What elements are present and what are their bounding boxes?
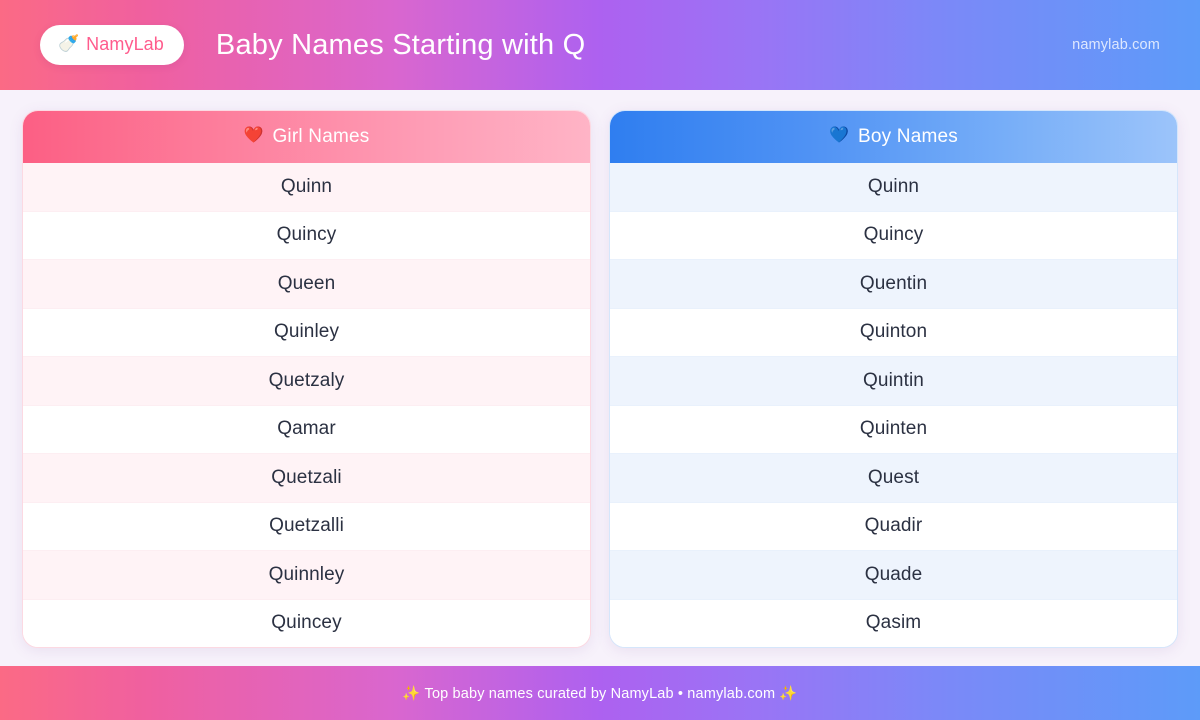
list-item[interactable]: Quetzali [23,454,590,503]
list-item[interactable]: Quetzaly [23,357,590,406]
girl-names-list: Quinn Quincy Queen Quinley Quetzaly Qama… [23,163,590,647]
page-footer: ✨ Top baby names curated by NamyLab • na… [0,666,1200,720]
list-item[interactable]: Qasim [610,600,1177,648]
names-columns-container: ❤️ Girl Names Quinn Quincy Queen Quinley… [0,90,1200,666]
list-item[interactable]: Quentin [610,260,1177,309]
brand-badge[interactable]: 🍼 NamyLab [40,25,184,65]
list-item[interactable]: Queen [23,260,590,309]
list-item[interactable]: Quinn [610,163,1177,212]
page-title: Baby Names Starting with Q [216,29,585,62]
blue-heart-icon: 💙 [829,128,849,144]
list-item[interactable]: Quade [610,551,1177,600]
site-url-label: namylab.com [1072,37,1160,53]
girl-names-title: Girl Names [272,126,369,148]
list-item[interactable]: Quest [610,454,1177,503]
footer-credit-text: ✨ Top baby names curated by NamyLab • na… [402,685,797,702]
list-item[interactable]: Quincy [610,212,1177,261]
baby-bottle-icon: 🍼 [58,35,79,52]
list-item[interactable]: Quetzalli [23,503,590,552]
brand-name-label: NamyLab [86,34,164,55]
list-item[interactable]: Qamar [23,406,590,455]
girl-names-card: ❤️ Girl Names Quinn Quincy Queen Quinley… [22,110,591,648]
girl-names-header: ❤️ Girl Names [23,111,590,163]
boy-names-header: 💙 Boy Names [610,111,1177,163]
boy-names-list: Quinn Quincy Quentin Quinton Quintin Qui… [610,163,1177,647]
list-item[interactable]: Quinn [23,163,590,212]
boy-names-card: 💙 Boy Names Quinn Quincy Quentin Quinton… [609,110,1178,648]
list-item[interactable]: Quinnley [23,551,590,600]
list-item[interactable]: Quinten [610,406,1177,455]
list-item[interactable]: Quinton [610,309,1177,358]
boy-names-title: Boy Names [858,126,958,148]
list-item[interactable]: Quincy [23,212,590,261]
red-heart-icon: ❤️ [244,128,264,144]
list-item[interactable]: Quincey [23,600,590,648]
list-item[interactable]: Quintin [610,357,1177,406]
list-item[interactable]: Quadir [610,503,1177,552]
list-item[interactable]: Quinley [23,309,590,358]
page-header: 🍼 NamyLab Baby Names Starting with Q nam… [0,0,1200,90]
